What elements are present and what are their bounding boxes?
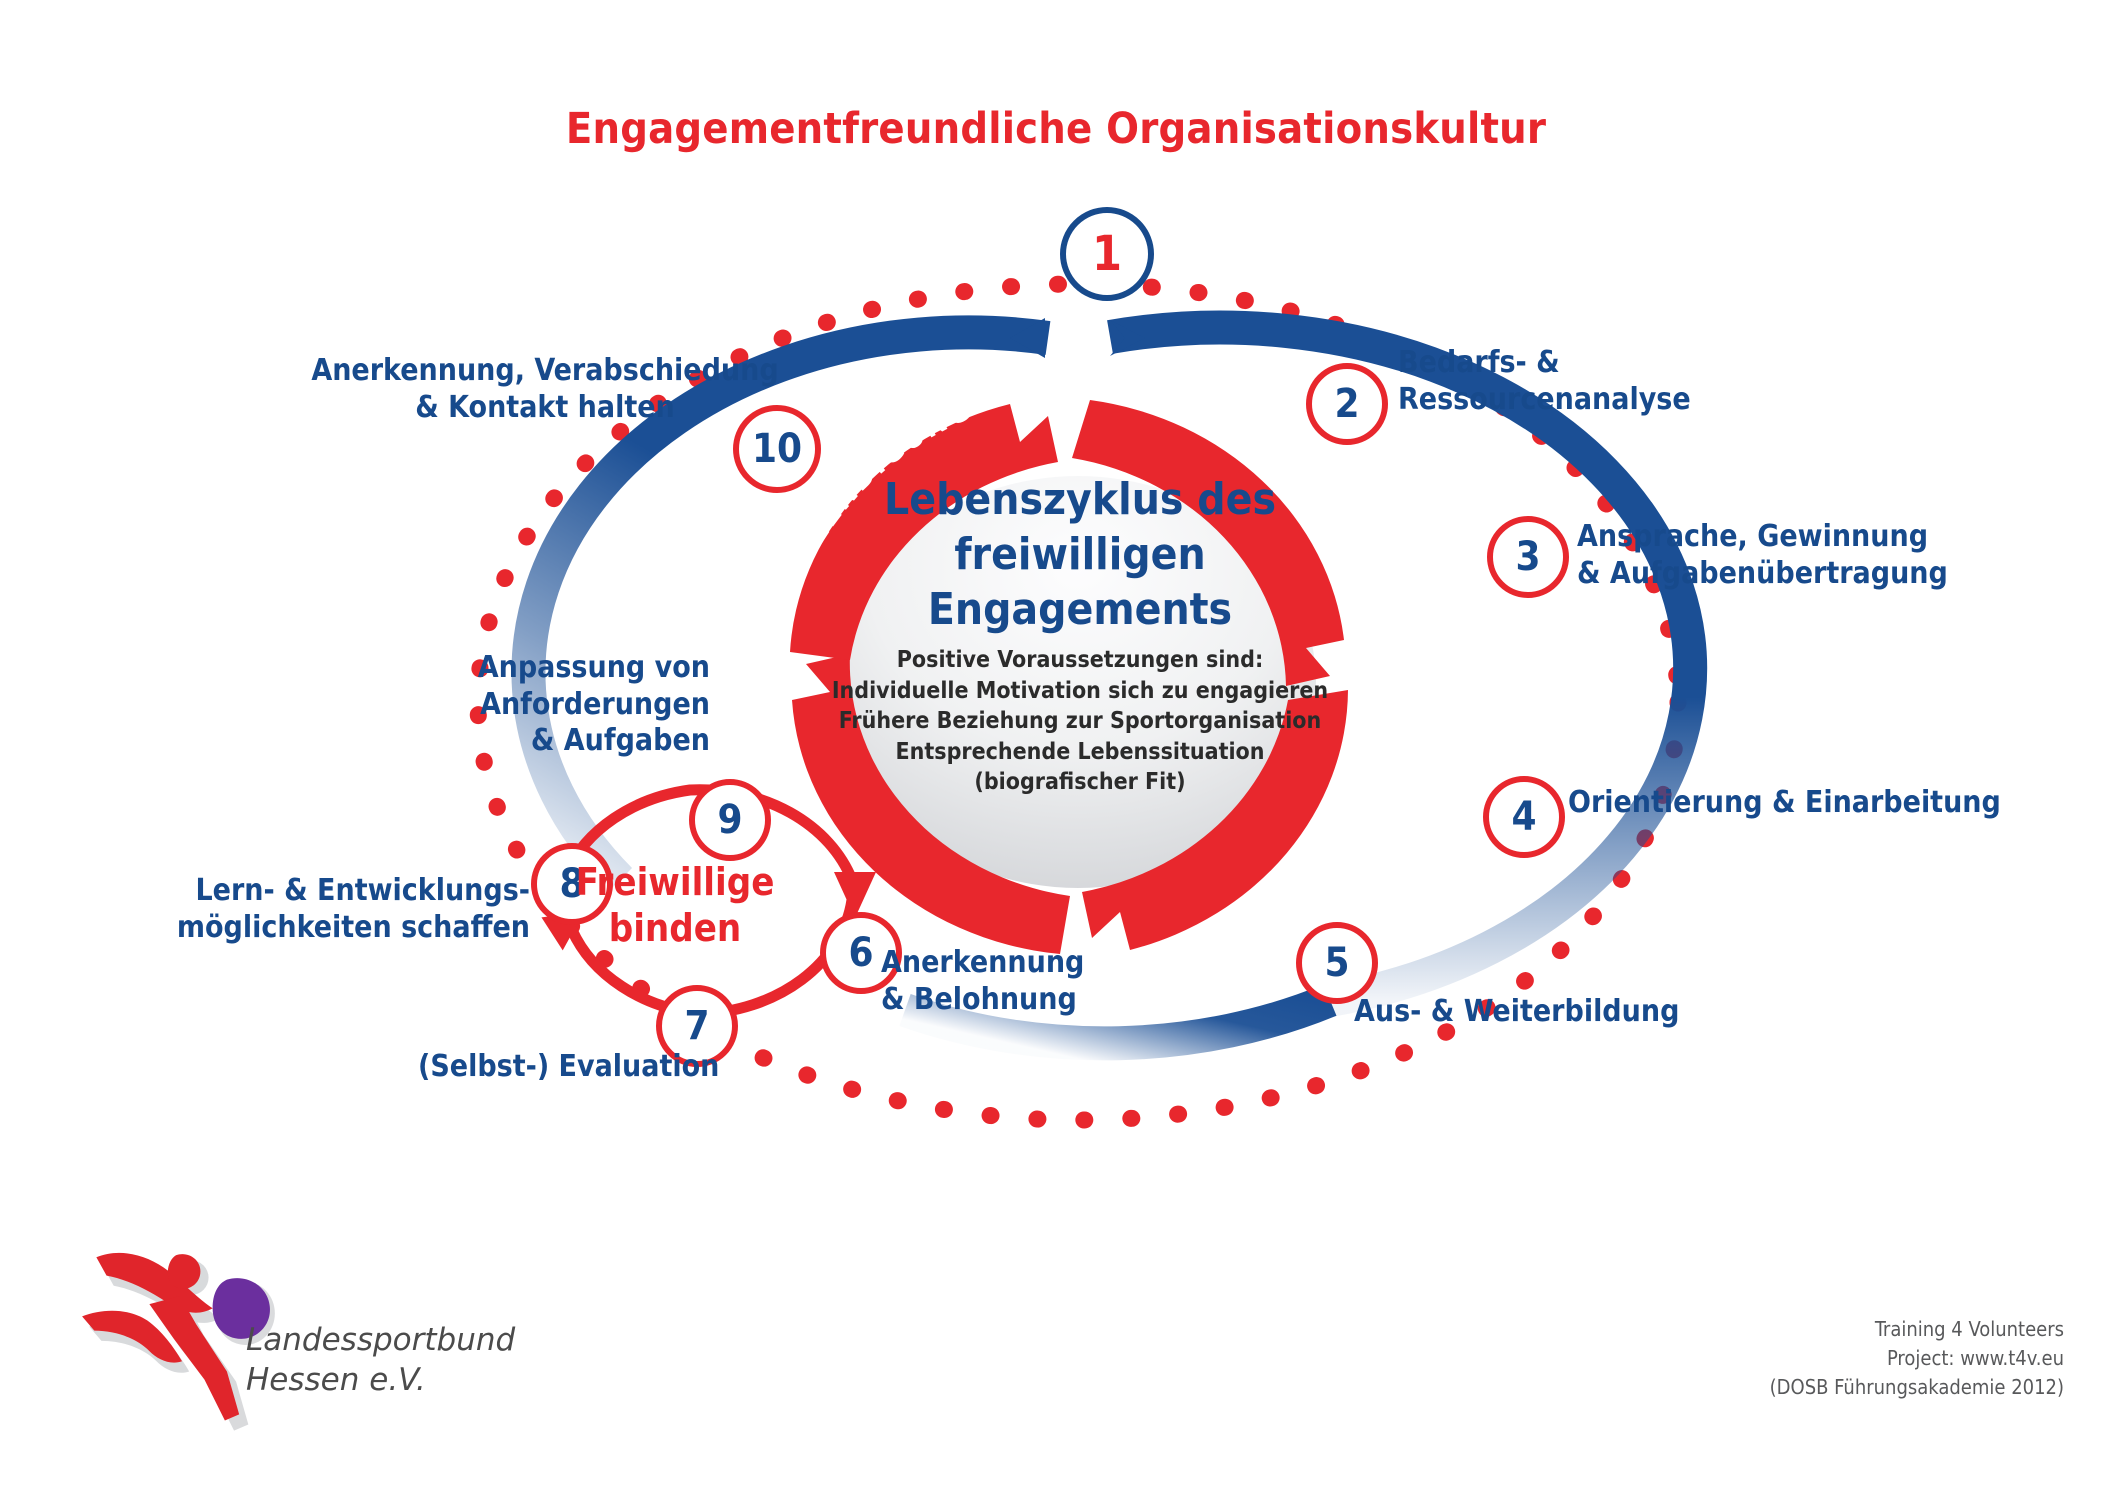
diagram-canvas: Engagementfreundliche Organisationskultu… (0, 0, 2112, 1487)
lsb-logo-icon (0, 0, 2112, 1487)
credit-text: Training 4 Volunteers Project: www.t4v.e… (1770, 1315, 2064, 1402)
logo-wordmark: Landessportbund Hessen e.V. (246, 1320, 515, 1401)
